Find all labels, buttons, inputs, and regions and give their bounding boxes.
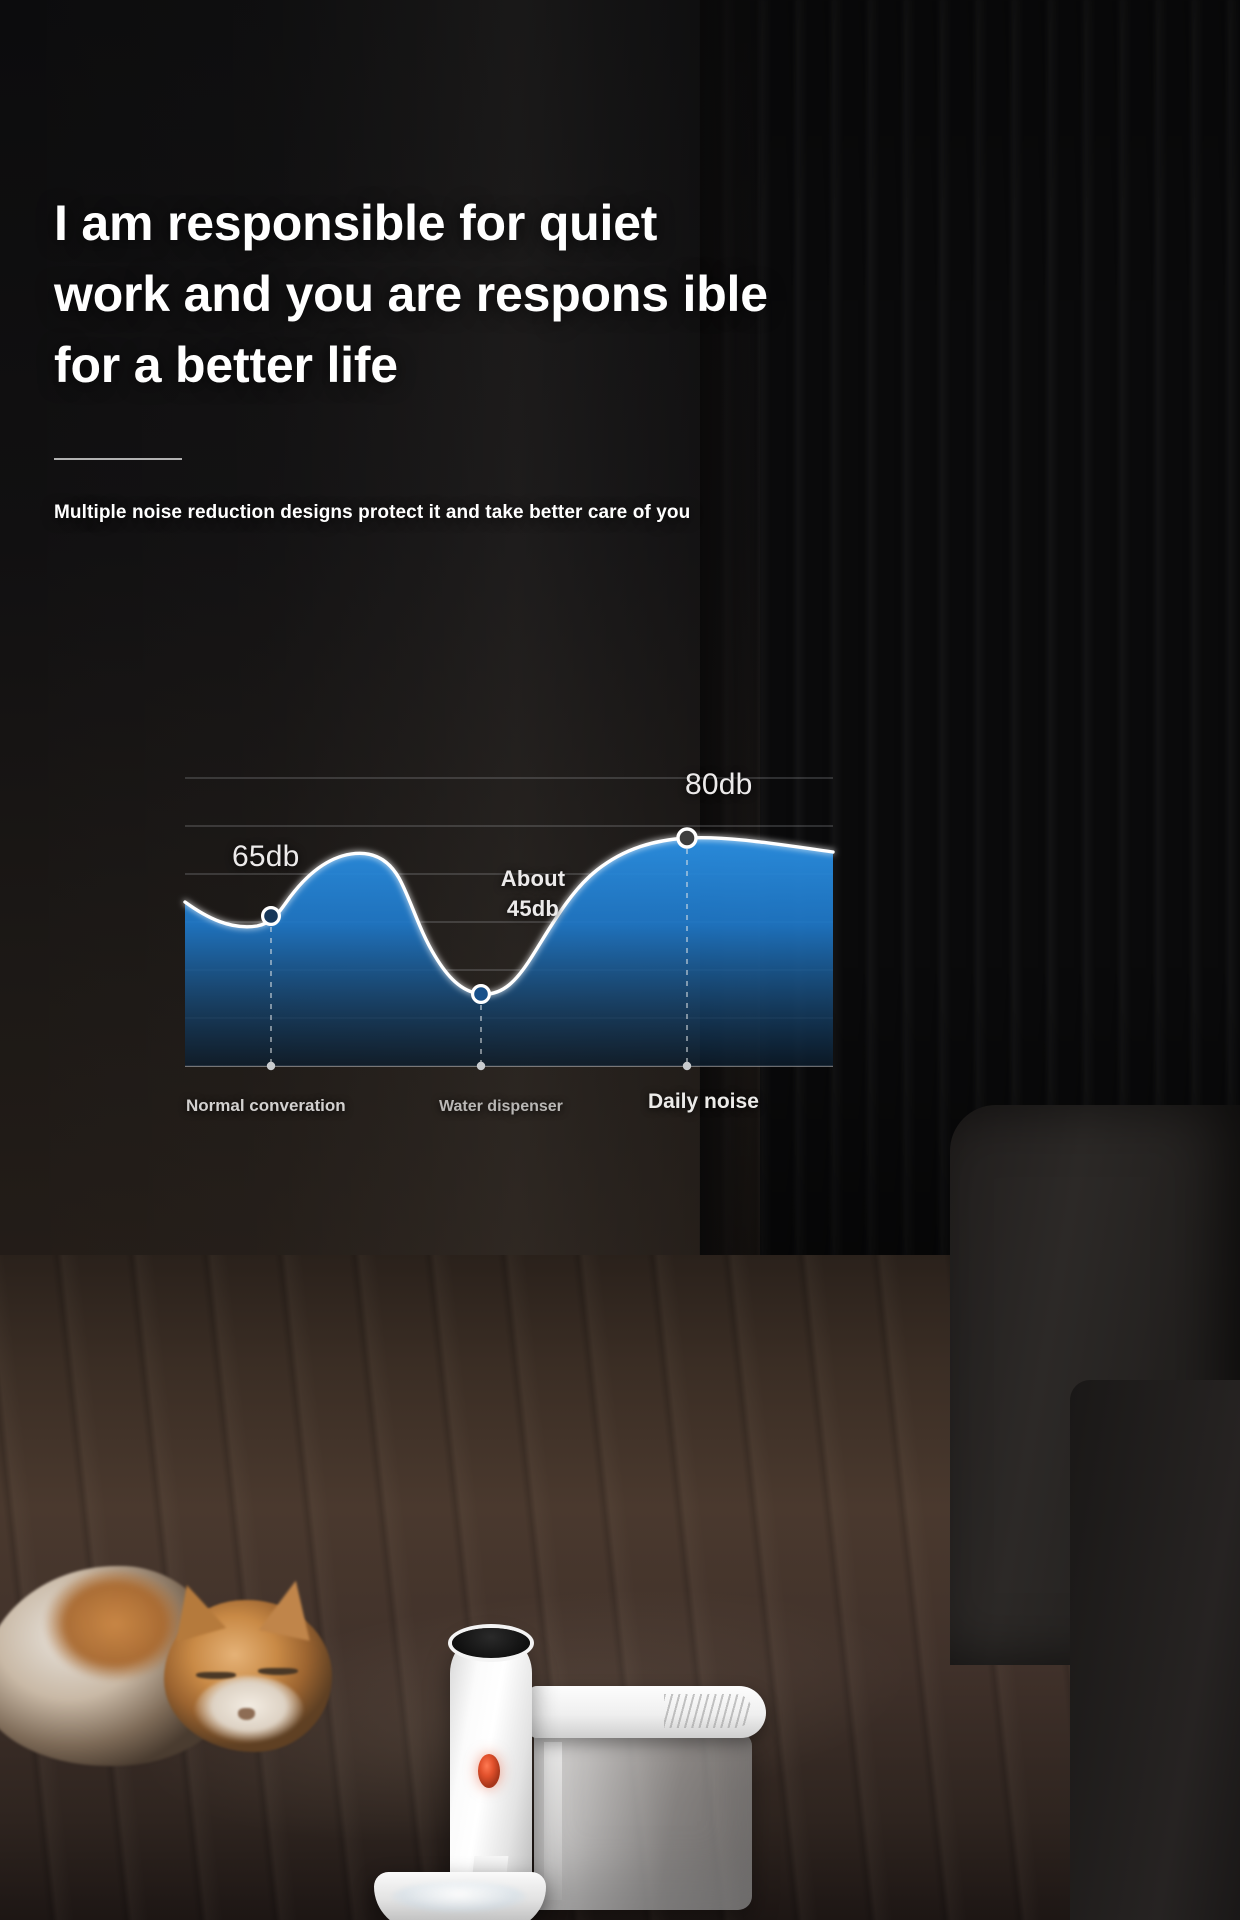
chart-xlabel-water-dispenser: Water dispenser [439, 1098, 563, 1116]
cat-nose [238, 1708, 255, 1720]
product-power-button[interactable] [478, 1754, 500, 1788]
chart-value-label-80db: 80db [685, 768, 753, 802]
page-title: I am responsible for quiet work and you … [54, 188, 774, 401]
chart-xlabel-daily-noise: Daily noise [648, 1090, 759, 1114]
chart-xlabel-normal-conversation: Normal converation [186, 1096, 346, 1116]
product-tower-opening [452, 1628, 530, 1658]
chart-value-label-65db: 65db [232, 840, 300, 874]
chart-value-label-45db-line1: About [501, 866, 566, 891]
furniture-right-lower [1070, 1380, 1240, 1920]
subtitle-text: Multiple noise reduction designs protect… [54, 498, 766, 529]
chart-value-label-45db-line2: 45db [507, 896, 559, 921]
sleeping-cat [0, 1548, 362, 1778]
chart-marker-water-dispenser[interactable] [473, 986, 490, 1003]
cat-eye-right [258, 1668, 298, 1675]
product-tank-lid [528, 1686, 766, 1738]
pet-water-fountain [432, 1620, 852, 1920]
chart-svg [185, 760, 833, 1140]
chart-marker-normal-conversation[interactable] [263, 908, 280, 925]
product-water-stream [392, 1882, 526, 1912]
chart-value-label-45db: About 45db [473, 864, 593, 925]
product-water-tank [534, 1732, 752, 1910]
cat-eye-left [196, 1672, 236, 1679]
marketing-copy-block: I am responsible for quiet work and you … [54, 188, 774, 529]
divider-rule [54, 458, 182, 460]
noise-level-chart: 65db About 45db 80db Normal converation … [185, 760, 833, 1140]
chart-marker-daily-noise[interactable] [678, 829, 696, 847]
